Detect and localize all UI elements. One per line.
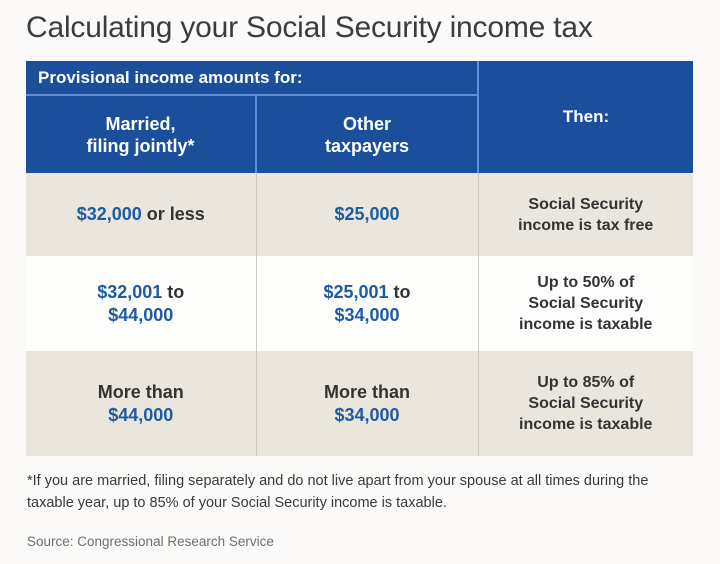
then-line2: Social Security (528, 395, 643, 412)
amount-value: $25,001 (323, 282, 388, 302)
source-attribution: Source: Congressional Research Service (27, 534, 274, 549)
amount-suffix: to (389, 282, 411, 302)
amount-prefix: More than (324, 382, 410, 402)
column-header-other-line1: Other (343, 114, 391, 134)
column-header-married: Married, filing jointly* (26, 95, 256, 173)
then-line1: Up to 50% of (537, 274, 634, 291)
column-header-other: Other taxpayers (256, 95, 478, 173)
cell-other-row1: $25,000 (256, 173, 478, 256)
amount-prefix: More than (98, 382, 184, 402)
column-header-other-line2: taxpayers (325, 136, 409, 156)
then-line3: income is taxable (519, 416, 652, 433)
cell-then-row2: Up to 50% of Social Security income is t… (478, 256, 693, 351)
table-row: More than $44,000 More than $34,000 Up t… (26, 351, 693, 456)
column-header-then: Then: (478, 61, 693, 173)
table-row: $32,001 to $44,000 $25,001 to $34,000 Up… (26, 256, 693, 351)
table-header-group-row: Provisional income amounts for: Then: (26, 61, 693, 95)
amount-value: $25,000 (334, 204, 399, 224)
amount-value-line2: $44,000 (108, 305, 173, 325)
then-line3: income is taxable (519, 316, 652, 333)
amount-value: $32,001 (97, 282, 162, 302)
amount-suffix: or less (142, 204, 205, 224)
footnote-text: *If you are married, filing separately a… (27, 470, 695, 514)
cell-then-row1: Social Security income is tax free (478, 173, 693, 256)
amount-value-line2: $34,000 (334, 405, 399, 425)
column-header-married-line2: filing jointly* (87, 136, 195, 156)
group-header-label: Provisional income amounts for: (26, 61, 478, 95)
tax-threshold-table: Provisional income amounts for: Then: Ma… (26, 61, 693, 456)
amount-suffix: to (162, 282, 184, 302)
cell-then-row3: Up to 85% of Social Security income is t… (478, 351, 693, 456)
then-line1: Up to 85% of (537, 374, 634, 391)
then-line2: income is tax free (518, 217, 653, 234)
amount-value-line2: $44,000 (108, 405, 173, 425)
then-line2: Social Security (528, 295, 643, 312)
page-title: Calculating your Social Security income … (26, 8, 696, 48)
column-header-married-line1: Married, (105, 114, 175, 134)
table-row: $32,000 or less $25,000 Social Security … (26, 173, 693, 256)
then-line1: Social Security (528, 196, 643, 213)
cell-married-row1: $32,000 or less (26, 173, 256, 256)
cell-married-row3: More than $44,000 (26, 351, 256, 456)
infographic-page: Calculating your Social Security income … (0, 0, 720, 564)
amount-value-line2: $34,000 (334, 305, 399, 325)
cell-other-row2: $25,001 to $34,000 (256, 256, 478, 351)
cell-other-row3: More than $34,000 (256, 351, 478, 456)
amount-value: $32,000 (77, 204, 142, 224)
cell-married-row2: $32,001 to $44,000 (26, 256, 256, 351)
